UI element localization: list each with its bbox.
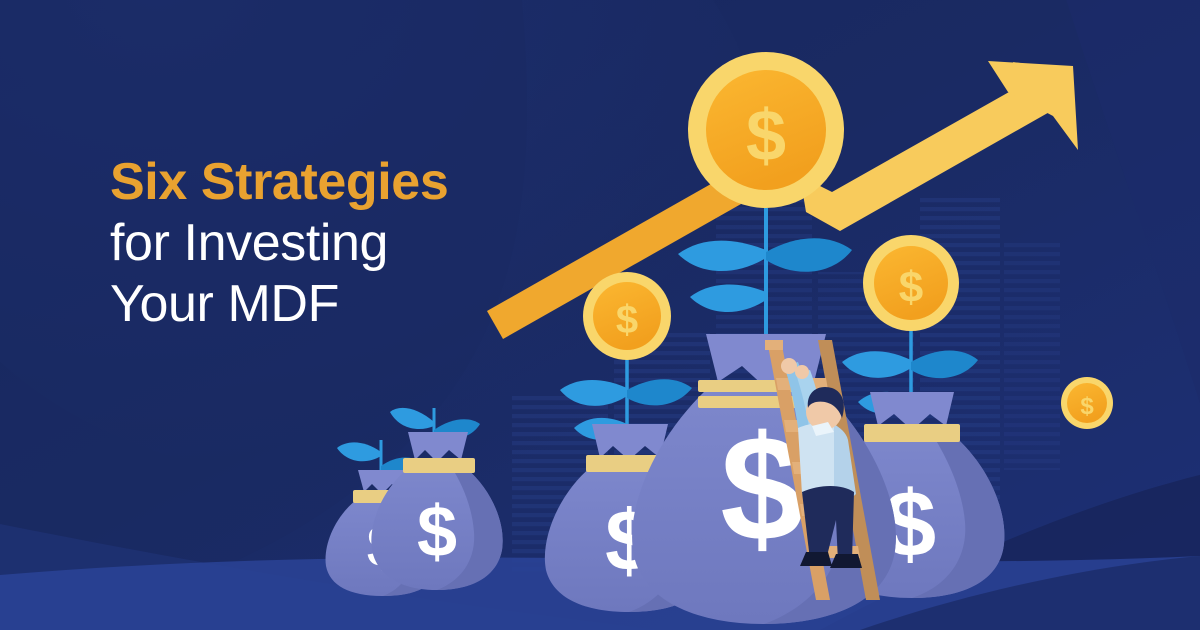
banner-illustration: $ $ $ $: [0, 0, 1200, 630]
promo-banner: $ $ $ $: [0, 0, 1200, 630]
ladder-top-cap: [765, 340, 783, 350]
coin-mid-right: $: [863, 235, 959, 331]
coin-mid-right-dollar: $: [899, 263, 923, 312]
coin-mid-left-dollar: $: [616, 298, 638, 342]
coin-large-top-dollar: $: [746, 96, 786, 176]
coin-small-far-right: $: [1061, 377, 1113, 429]
coin-small-far-right-dollar: $: [1080, 393, 1094, 420]
person-legs: [802, 486, 854, 562]
money-bag-small-left-2-neck: [408, 432, 468, 462]
person-hand-lower: [795, 365, 809, 379]
money-bag-small-left-2-dollar: $: [417, 492, 457, 572]
money-bag-right-band: [864, 424, 960, 442]
person-hand-upper: [781, 358, 797, 374]
coin-large-top: $: [688, 52, 844, 208]
money-bag-small-left-2-band: [403, 458, 475, 473]
coin-mid-left: $: [583, 272, 671, 360]
